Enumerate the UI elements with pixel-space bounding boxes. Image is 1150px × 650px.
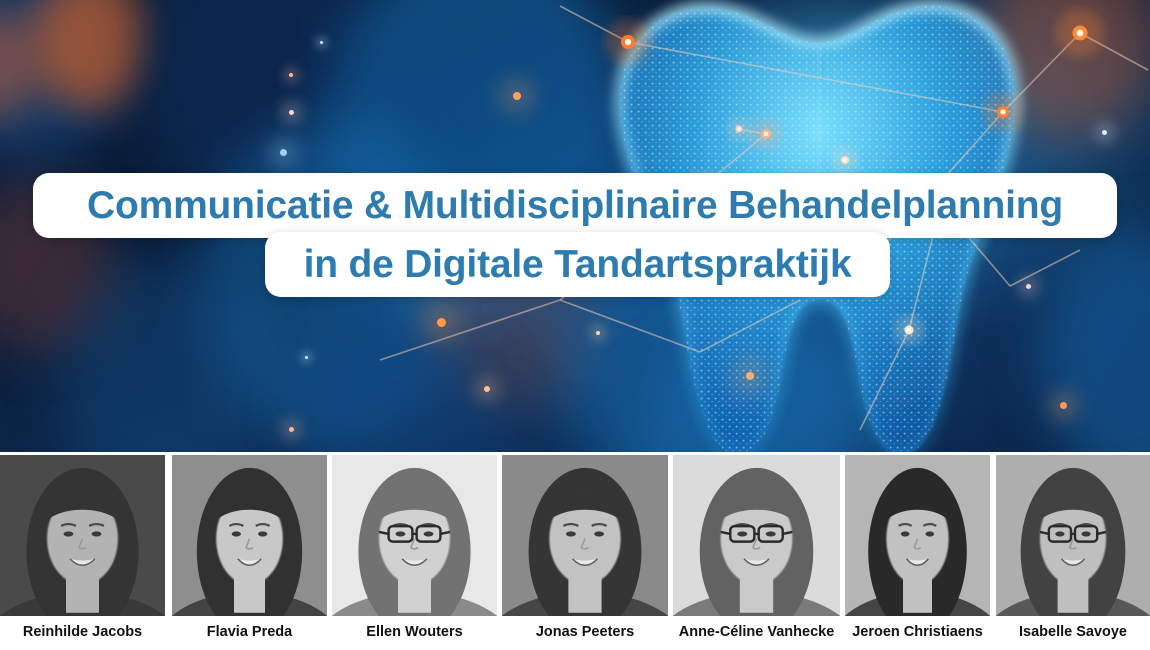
sparkle-dot	[289, 110, 294, 115]
speaker-name-label: Isabelle Savoye	[996, 624, 1150, 640]
sparkle-dot	[289, 73, 293, 77]
sparkle-dot	[746, 372, 754, 380]
portrait-reinhilde-jacobs	[0, 455, 165, 616]
sparkle-dot	[320, 41, 323, 44]
sparkle-dot	[289, 427, 294, 432]
speaker-name-label: Reinhilde Jacobs	[0, 624, 165, 640]
network-node-icon	[895, 316, 924, 345]
sparkle-dot	[280, 149, 287, 156]
portrait-jonas-peeters	[502, 455, 668, 616]
sparkle-dot	[1060, 402, 1067, 409]
title-banner-line1: Communicatie & Multidisciplinaire Behand…	[33, 173, 1117, 238]
speaker-name-label: Jonas Peeters	[502, 624, 668, 640]
network-node-icon	[728, 118, 750, 140]
network-node-icon	[832, 147, 858, 173]
network-node-icon	[606, 20, 651, 65]
speaker-photo	[172, 455, 327, 616]
portrait-isabelle-savoye	[996, 455, 1150, 616]
portrait-anne-celine-vanhecke	[673, 455, 840, 616]
title-banner-line2: in de Digitale Tandartspraktijk	[265, 232, 890, 297]
speaker-name-label: Ellen Wouters	[332, 624, 497, 640]
speaker-photo	[673, 455, 840, 616]
slide-root: Communicatie & Multidisciplinaire Behand…	[0, 0, 1150, 650]
sparkle-dot	[1026, 284, 1031, 289]
sparkle-dot	[484, 386, 490, 392]
speaker-photo	[845, 455, 990, 616]
portrait-flavia-preda	[172, 455, 327, 616]
speaker-photo	[996, 455, 1150, 616]
hero-banner: Communicatie & Multidisciplinaire Behand…	[0, 0, 1150, 452]
speaker-photo	[502, 455, 668, 616]
network-node-icon	[984, 93, 1022, 131]
speaker-strip: Reinhilde JacobsFlavia PredaEllen Wouter…	[0, 452, 1150, 650]
network-node-icon	[1056, 9, 1104, 57]
title-line-1: Communicatie & Multidisciplinaire Behand…	[87, 184, 1063, 228]
sparkle-dot	[513, 92, 521, 100]
sparkle-dot	[596, 331, 600, 335]
sparkle-dot	[305, 356, 308, 359]
speaker-photo	[0, 455, 165, 616]
sparkle-dot	[1102, 130, 1107, 135]
speaker-name-label: Anne-Céline Vanhecke	[673, 624, 840, 640]
speaker-name-label: Jeroen Christiaens	[845, 624, 990, 640]
network-node-icon	[750, 118, 782, 150]
speaker-photo	[332, 455, 497, 616]
speaker-names: Reinhilde JacobsFlavia PredaEllen Wouter…	[0, 616, 1150, 650]
portrait-jeroen-christiaens	[845, 455, 990, 616]
sparkle-dot	[437, 318, 446, 327]
title-line-2: in de Digitale Tandartspraktijk	[304, 243, 852, 287]
portrait-ellen-wouters	[332, 455, 497, 616]
speaker-name-label: Flavia Preda	[172, 624, 327, 640]
speaker-photos	[0, 455, 1150, 616]
